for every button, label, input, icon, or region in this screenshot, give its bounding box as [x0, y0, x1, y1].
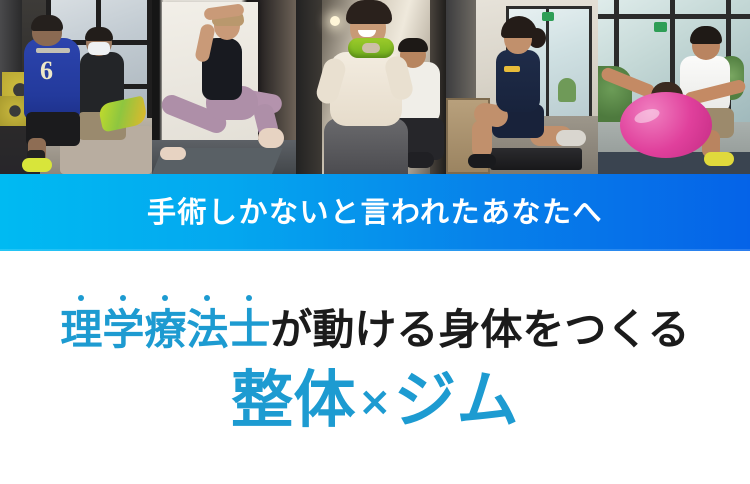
- trainer-hair: [398, 38, 428, 52]
- photo-scene: [296, 0, 446, 174]
- window-frame: [598, 14, 750, 19]
- face-mask: [88, 42, 110, 55]
- photo-panel-balance-ball: [598, 0, 750, 174]
- client-pants: [324, 118, 408, 174]
- training-platform: [490, 148, 582, 170]
- photo-scene: 6: [0, 0, 152, 174]
- headline-line-1: 理学療法士 が動ける身体をつくる: [0, 309, 750, 351]
- photo-strip: 6: [0, 0, 750, 174]
- balance-ball: [620, 92, 712, 158]
- photo-scene: [446, 0, 598, 174]
- client-shoe: [556, 130, 586, 146]
- jersey-nameplate: [36, 48, 70, 53]
- client-foot: [258, 128, 284, 148]
- shirt-logo: [504, 66, 520, 72]
- photo-panel-wall-stretch: [152, 0, 296, 174]
- headline-line-1-rest: が動ける身体をつくる: [270, 305, 689, 354]
- trainer-shoe: [704, 152, 734, 166]
- headline-emphasis-term: 理学療法士: [60, 309, 270, 351]
- headline-emphasis-text: 理学療法士: [60, 305, 270, 354]
- jersey-number: 6: [40, 58, 53, 84]
- green-weight: [348, 38, 394, 58]
- ceiling-light: [330, 16, 340, 26]
- headline-line-2: 整体×ジム: [0, 369, 750, 431]
- client-hair: [31, 15, 63, 31]
- trainer-shoe: [404, 152, 434, 168]
- client-shin: [472, 120, 492, 158]
- emphasis-dots: [60, 295, 270, 301]
- client-tshirt: [496, 50, 540, 112]
- photo-panel-kettlebell-squat: [296, 0, 446, 174]
- client-foot: [160, 147, 186, 160]
- gradient-banner: 手術しかないと言われたあなたへ: [0, 174, 750, 251]
- trainer-hair: [690, 26, 722, 44]
- photo-scene: [152, 0, 296, 174]
- client-shoe: [22, 158, 52, 172]
- banner-headline: 手術しかないと言われたあなたへ: [147, 198, 603, 227]
- client-shoe: [468, 154, 496, 168]
- headline-line-2-part-1: 整体: [231, 363, 356, 436]
- glass-divider: [546, 6, 549, 116]
- headline-block: 理学療法士 が動ける身体をつくる 整体×ジム: [0, 251, 750, 484]
- headline-separator-x: ×: [356, 379, 394, 425]
- photo-scene: [598, 0, 750, 174]
- exit-sign-icon: [654, 22, 667, 32]
- client-hair: [346, 0, 392, 24]
- trainer-hair: [85, 27, 113, 41]
- landing-page-hero: 6: [0, 0, 750, 484]
- exit-sign-icon: [542, 12, 554, 21]
- photo-panel-platform-lunge: [446, 0, 598, 174]
- headline-line-2-part-2: ジム: [394, 363, 519, 436]
- potted-plant: [558, 78, 576, 102]
- photo-panel-gym-squat-coaching: 6: [0, 0, 152, 174]
